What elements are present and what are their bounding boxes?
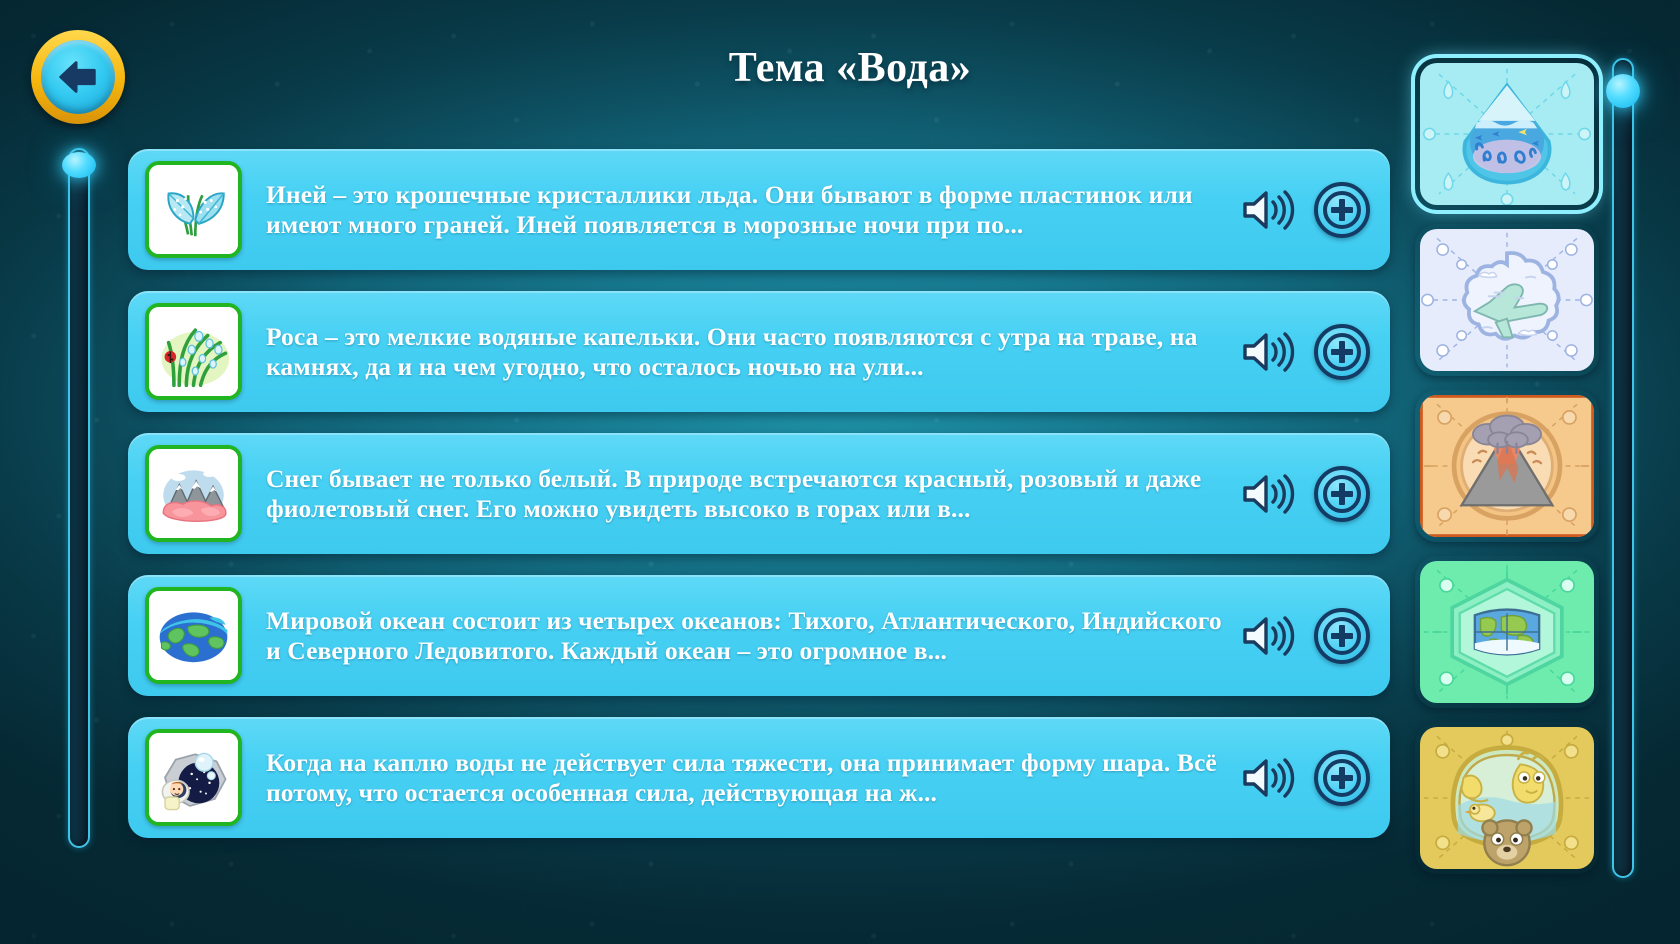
airplane-theme-icon (1420, 229, 1594, 371)
pink-snow-mountains-icon (145, 445, 242, 542)
fact-card-text: Роса – это мелкие водяные капельки. Они … (242, 322, 1238, 382)
plus-circle-icon[interactable] (1314, 608, 1370, 664)
animals-theme-icon (1420, 727, 1594, 869)
theme-scrollbar-thumb[interactable] (1606, 74, 1640, 108)
plus-circle-icon[interactable] (1314, 466, 1370, 522)
fact-card[interactable]: Мировой океан состоит из четырех океанов… (128, 575, 1390, 696)
theme-sidebar (1415, 58, 1599, 874)
fact-card-actions (1238, 608, 1376, 664)
earth-globe-icon (145, 587, 242, 684)
theme-tile-earth[interactable] (1415, 556, 1599, 708)
plus-glyph (1323, 191, 1361, 229)
fact-card-actions (1238, 750, 1376, 806)
theme-tile-fire[interactable] (1415, 390, 1599, 542)
fact-card[interactable]: Когда на каплю воды не действует сила тя… (128, 717, 1390, 838)
speaker-icon[interactable] (1238, 184, 1296, 236)
plus-glyph (1323, 617, 1361, 655)
fact-card-list: Иней – это крошечные кристаллики льда. О… (128, 149, 1390, 859)
frost-leaf-icon (145, 161, 242, 258)
theme-tile-air[interactable] (1415, 224, 1599, 376)
water-drop-theme-icon (1420, 63, 1594, 205)
content-scrollbar[interactable] (66, 148, 92, 848)
theme-tile-animals[interactable] (1415, 722, 1599, 874)
fact-card[interactable]: Снег бывает не только белый. В природе в… (128, 433, 1390, 554)
globe-theme-icon (1420, 561, 1594, 703)
fact-card-text: Иней – это крошечные кристаллики льда. О… (242, 180, 1238, 240)
theme-tile-water[interactable] (1415, 58, 1599, 210)
fact-card-text: Когда на каплю воды не действует сила тя… (242, 748, 1238, 808)
theme-scrollbar[interactable] (1610, 58, 1636, 878)
content-scrollbar-thumb[interactable] (62, 152, 96, 178)
speaker-icon[interactable] (1238, 752, 1296, 804)
fact-card-actions (1238, 466, 1376, 522)
speaker-icon[interactable] (1238, 610, 1296, 662)
plus-glyph (1323, 759, 1361, 797)
plus-circle-icon[interactable] (1314, 750, 1370, 806)
fact-card[interactable]: Иней – это крошечные кристаллики льда. О… (128, 149, 1390, 270)
astronaut-space-icon (145, 729, 242, 826)
content-scrollbar-track[interactable] (68, 148, 90, 848)
app-root: Тема «Вода» (0, 0, 1680, 944)
speaker-icon[interactable] (1238, 326, 1296, 378)
theme-scrollbar-track[interactable] (1612, 58, 1634, 878)
fact-card-text: Мировой океан состоит из четырех океанов… (242, 606, 1238, 666)
plus-circle-icon[interactable] (1314, 324, 1370, 380)
fact-card[interactable]: Роса – это мелкие водяные капельки. Они … (128, 291, 1390, 412)
fact-card-text: Снег бывает не только белый. В природе в… (242, 464, 1238, 524)
plus-glyph (1323, 475, 1361, 513)
volcano-theme-icon (1420, 395, 1594, 537)
dew-grass-icon (145, 303, 242, 400)
plus-glyph (1323, 333, 1361, 371)
fact-card-actions (1238, 182, 1376, 238)
speaker-icon[interactable] (1238, 468, 1296, 520)
plus-circle-icon[interactable] (1314, 182, 1370, 238)
fact-card-actions (1238, 324, 1376, 380)
